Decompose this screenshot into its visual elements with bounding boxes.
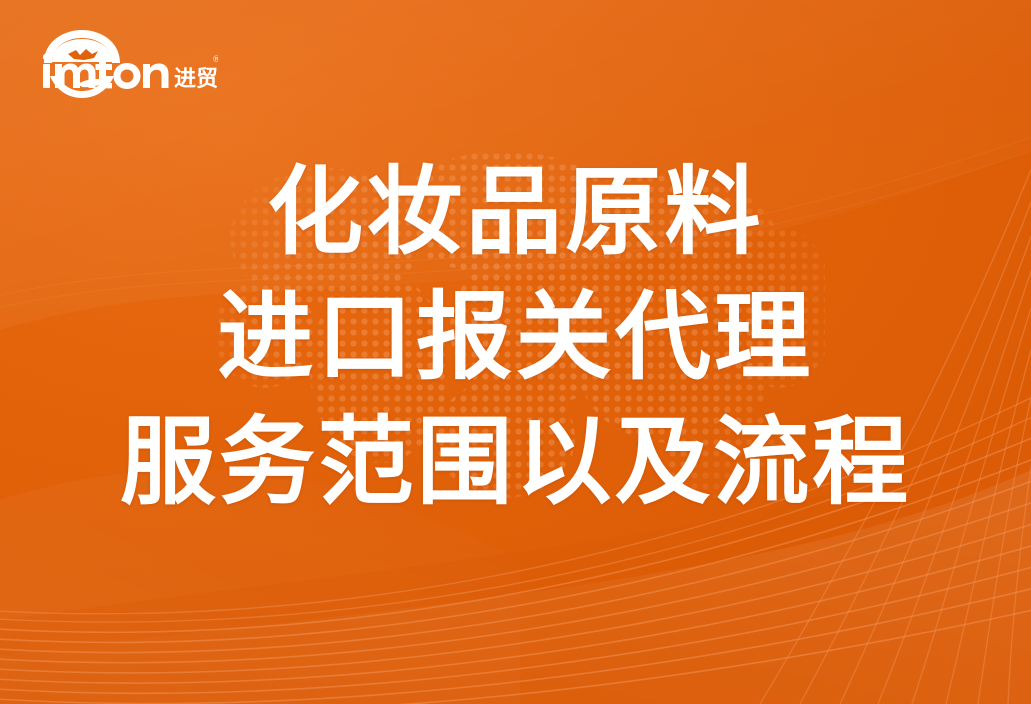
trademark-symbol: ® <box>212 55 218 65</box>
promotional-banner: 进贸通 ® 化妆品原料 进口报关代理 服务范围以及流程 <box>0 0 1031 704</box>
headline-line-2: 进口报关代理 <box>0 275 1031 400</box>
headline-block: 化妆品原料 进口报关代理 服务范围以及流程 <box>0 150 1031 524</box>
logo-wordmark-chinese: 进贸通 <box>174 67 218 92</box>
company-logo[interactable]: 进贸通 ® <box>38 28 218 102</box>
headline-line-1: 化妆品原料 <box>0 150 1031 275</box>
headline-line-3: 服务范围以及流程 <box>0 400 1031 525</box>
